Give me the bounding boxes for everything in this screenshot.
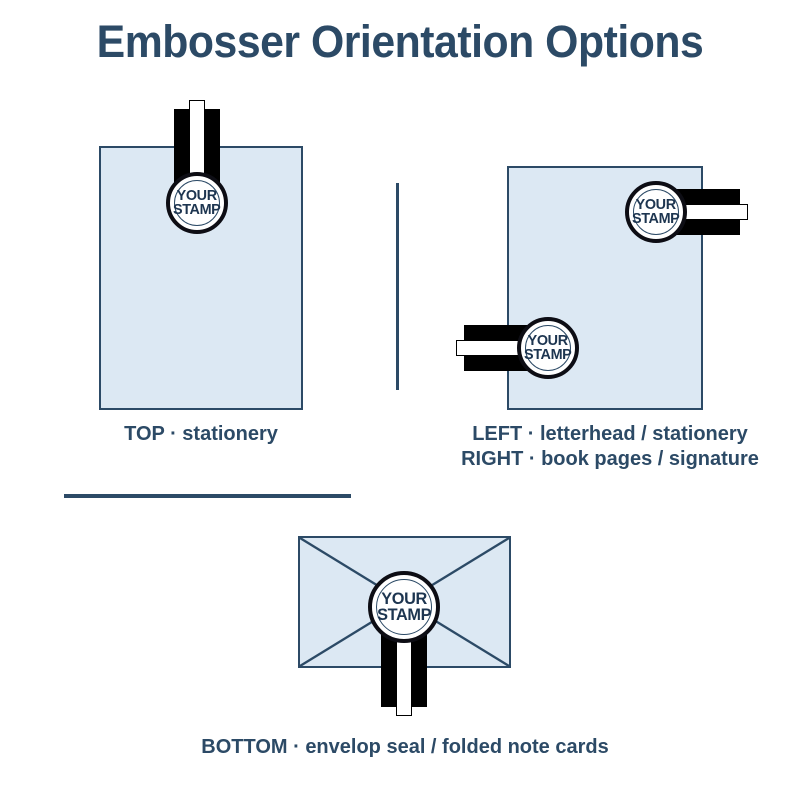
stamp-label-line2: STAMP xyxy=(632,212,679,226)
caption-side-line-2: RIGHT · book pages / signature xyxy=(425,447,795,472)
stamp-seal-right: YOUR STAMP xyxy=(625,181,687,243)
stamp-label: YOUR STAMP xyxy=(632,198,679,226)
stamp-label-line2: STAMP xyxy=(377,607,431,623)
stamp-label: YOUR STAMP xyxy=(377,591,431,622)
caption-bottom-line-1: BOTTOM · envelop seal / folded note card… xyxy=(100,735,710,760)
vertical-divider xyxy=(396,183,399,390)
stamp-label: YOUR STAMP xyxy=(524,334,571,362)
stamp-label: YOUR STAMP xyxy=(173,189,220,217)
stamp-seal-top: YOUR STAMP xyxy=(166,172,228,234)
horizontal-divider xyxy=(64,494,351,498)
page-title: Embosser Orientation Options xyxy=(20,16,780,68)
stamp-label-line2: STAMP xyxy=(173,203,220,217)
caption-side: LEFT · letterhead / stationery RIGHT · b… xyxy=(425,422,795,472)
caption-top: TOP · stationery xyxy=(60,422,342,447)
caption-bottom: BOTTOM · envelop seal / folded note card… xyxy=(100,735,710,760)
caption-side-line-1: LEFT · letterhead / stationery xyxy=(425,422,795,447)
stamp-seal-left: YOUR STAMP xyxy=(517,317,579,379)
diagram-canvas: Embosser Orientation Options YOUR STAMP … xyxy=(0,0,800,800)
caption-top-line-1: TOP · stationery xyxy=(60,422,342,447)
stamp-label-line2: STAMP xyxy=(524,348,571,362)
stamp-seal-bottom: YOUR STAMP xyxy=(368,571,440,643)
